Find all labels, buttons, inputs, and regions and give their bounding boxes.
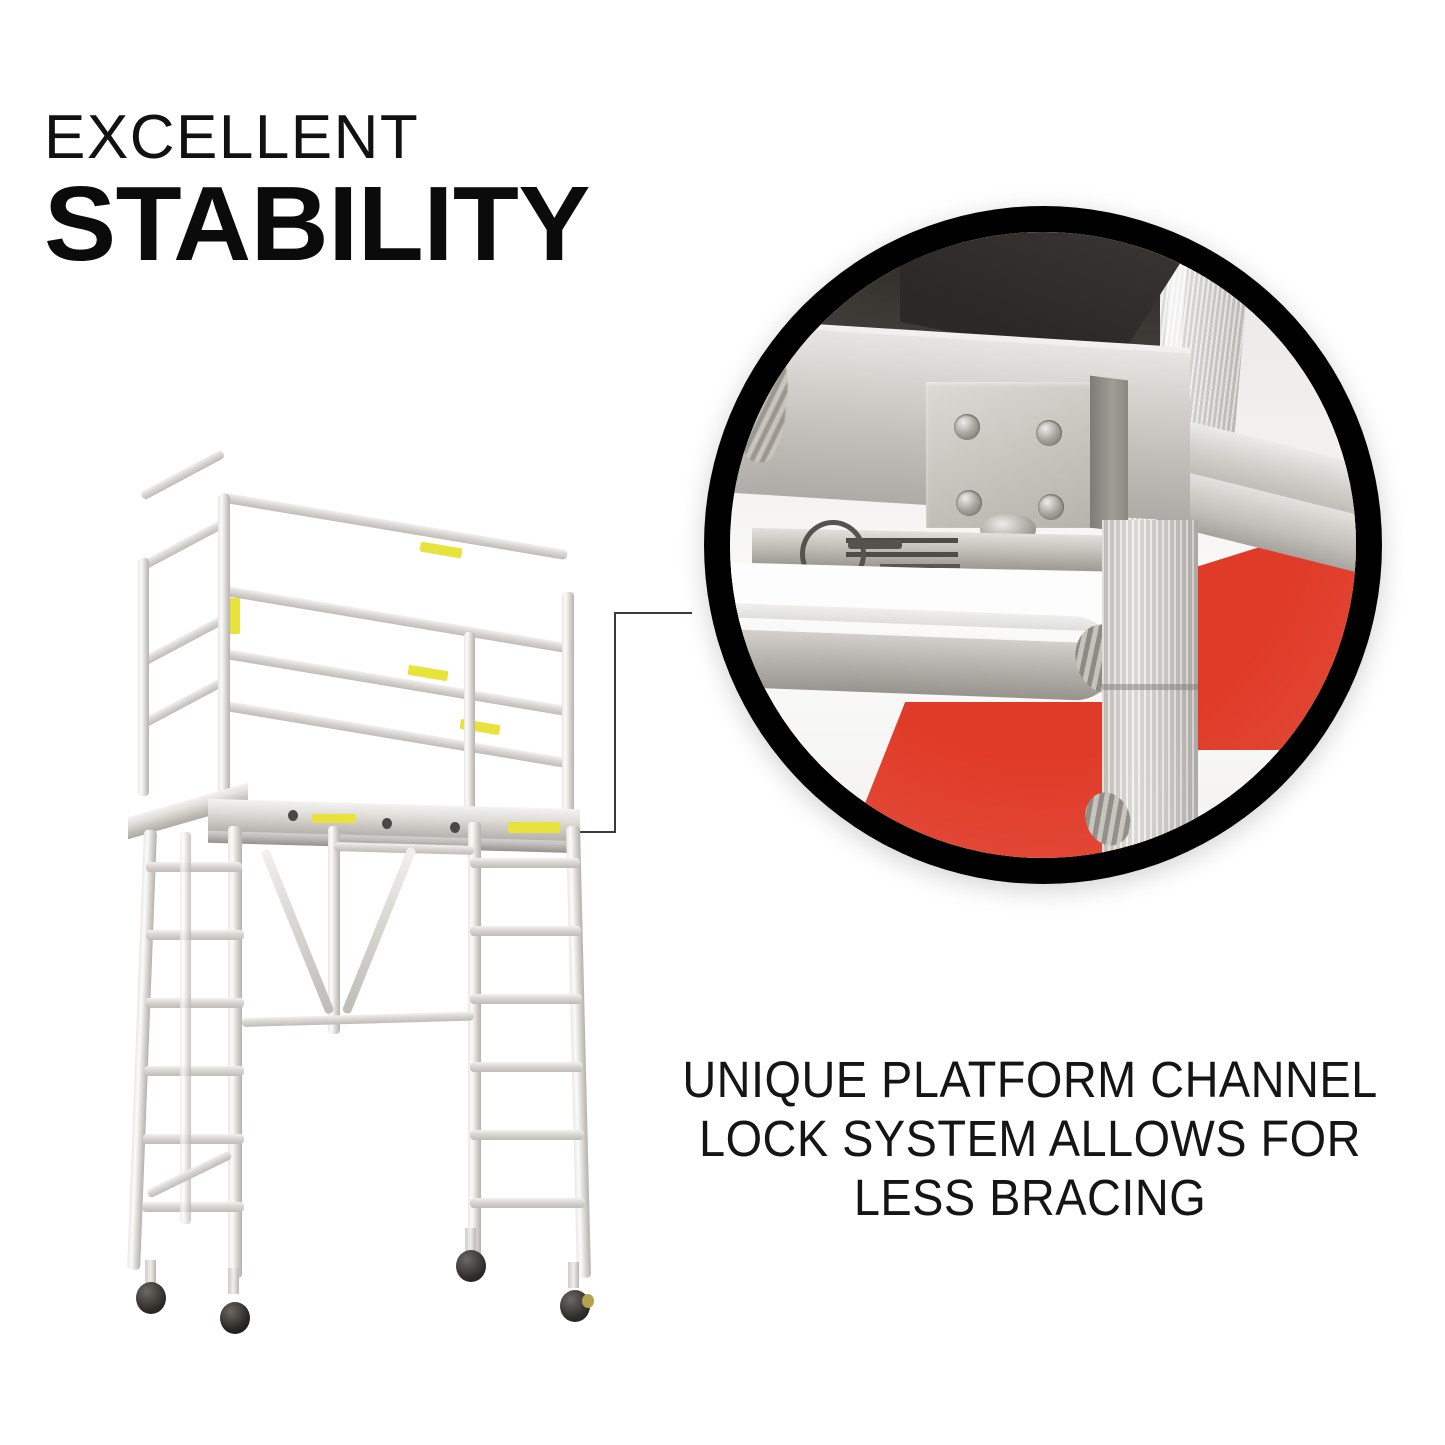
- caption-line-1: UNIQUE PLATFORM CHANNEL: [671, 1050, 1389, 1109]
- ladder-rung-r3: [470, 994, 582, 1004]
- stanchion-right-rear: [464, 632, 475, 810]
- brace-diagonal-right: [342, 846, 417, 1014]
- ladder-left-stile-rear: [180, 832, 191, 1224]
- ladder-rung-r5: [470, 1130, 584, 1140]
- poster-canvas: EXCELLENT STABILITY: [0, 0, 1445, 1445]
- channel-lock-photo: [730, 232, 1356, 858]
- leader-segment-top: [614, 612, 692, 614]
- headline-line-1: EXCELLENT: [44, 106, 724, 170]
- feature-caption: UNIQUE PLATFORM CHANNEL LOCK SYSTEM ALLO…: [640, 1050, 1420, 1227]
- guardrail-base-rear: [140, 677, 225, 728]
- ladder-rung-l1: [146, 862, 242, 872]
- ladder-rung-l5: [143, 1134, 244, 1144]
- guardrail-low-rear: [140, 615, 225, 666]
- castor-wheel: [456, 1250, 486, 1282]
- detail-callout-circle: [704, 206, 1382, 884]
- ladder-rung-l2: [146, 930, 244, 940]
- caption-line-3: LESS BRACING: [671, 1168, 1389, 1227]
- ladder-rung-r4: [470, 1062, 583, 1072]
- castor-stem: [228, 1268, 239, 1294]
- brace-bottom-rail: [242, 1012, 474, 1027]
- castor-wheel: [220, 1302, 250, 1334]
- guardrail-top-rear: [140, 449, 225, 500]
- ladder-rung-r1: [470, 858, 580, 868]
- ladder-right-stile-inner: [468, 822, 481, 1258]
- castor-stem: [568, 1262, 579, 1288]
- stanchion-left-rear: [138, 558, 149, 796]
- guardrail-top-front: [219, 492, 568, 560]
- castor-wheel: [136, 1282, 166, 1314]
- castor-bearing-cap: [582, 1294, 594, 1308]
- deck-label-2: [508, 822, 560, 833]
- ladder-rung-l3: [145, 998, 244, 1008]
- guardrail-base-front: [219, 700, 568, 768]
- guardrail-mid-rear: [140, 519, 225, 570]
- headline-line-2: STABILITY: [44, 172, 738, 276]
- safety-marker-3: [407, 665, 448, 681]
- ladder-rung-r6: [470, 1198, 585, 1208]
- guardrail-low-front: [219, 648, 568, 716]
- ladder-rung-r2: [470, 926, 581, 936]
- deck-port-1: [288, 810, 298, 821]
- stanchion-left-front: [218, 494, 230, 810]
- guardrail-mid-front: [219, 585, 568, 653]
- scaffold-tower-image: [120, 470, 620, 1350]
- stanchion-right-front: [562, 592, 574, 818]
- deck-label-1: [312, 814, 356, 823]
- caption-line-2: LOCK SYSTEM ALLOWS FOR: [671, 1109, 1389, 1168]
- page-title: EXCELLENT STABILITY: [44, 106, 724, 276]
- ladder-right-stile-outer: [566, 826, 591, 1278]
- deck-port-2: [382, 818, 392, 829]
- safety-marker-1: [419, 542, 462, 559]
- deck-port-3: [450, 822, 460, 833]
- photo-vignette: [730, 232, 1356, 858]
- ladder-rung-l4: [144, 1066, 244, 1076]
- brace-diagonal-left: [260, 848, 334, 1015]
- ladder-rung-l6: [142, 1202, 244, 1212]
